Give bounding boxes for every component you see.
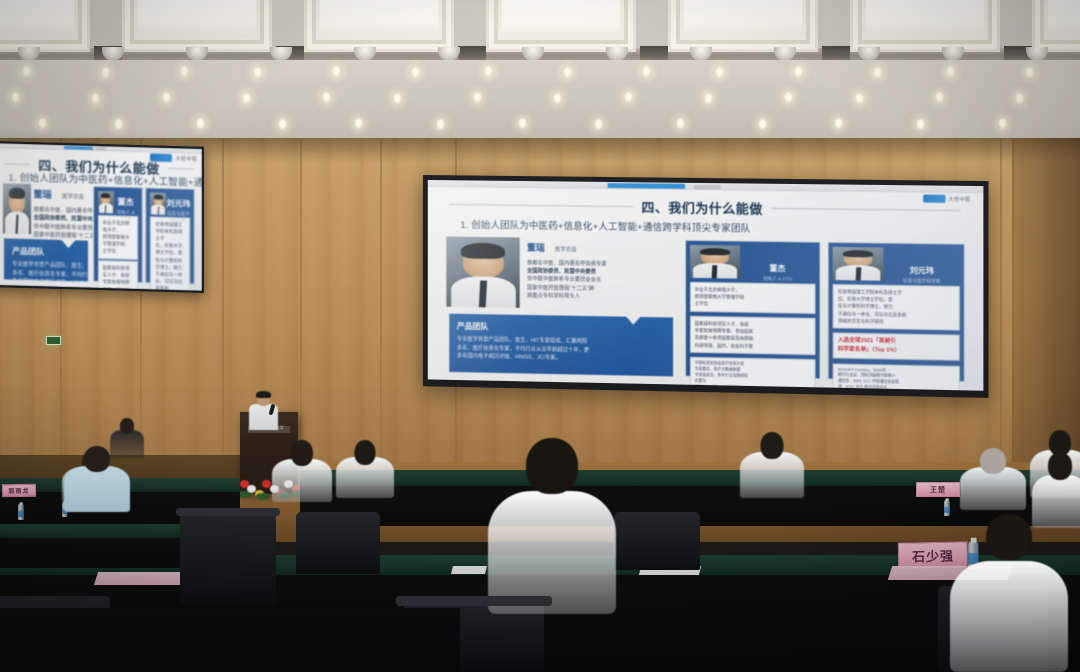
info-card: 毕业于北京邮电大学，获得密歇根大学管理学硕士学位 <box>690 282 816 314</box>
panel-header: 董杰 创始人 & CTO <box>98 191 138 215</box>
downlight <box>784 92 793 103</box>
bottle-label <box>18 511 24 517</box>
exit-sign <box>46 336 61 345</box>
downlight <box>998 118 1007 129</box>
profile-line: 病重点专科学科带头人 <box>527 292 678 303</box>
downlight <box>715 67 724 78</box>
auxiliary-monitor: 大经中医 四、我们为什么能做 1. 创始人团队为中医药+信息化+人工智能+通信跨… <box>0 141 204 293</box>
wall-right-shadow <box>1012 138 1080 468</box>
downlight <box>676 118 685 129</box>
person-head <box>291 440 313 466</box>
downlight <box>473 92 482 103</box>
portrait-photo <box>833 246 884 280</box>
conference-hall-photo: 大经中医 四、我们为什么能做 1. 创始人团队为中医药+信息化+人工智能+通信跨… <box>0 0 1080 672</box>
downlight <box>242 93 251 104</box>
card-line: 科学家名单」（Top 1%） <box>838 346 955 357</box>
card-line: 科研项目、国内、知名科学家 <box>695 341 811 350</box>
downlight <box>196 118 205 129</box>
panel-header: 刘元玮 信息与医疗科学家 <box>150 192 190 216</box>
nameplate: 郭雨龙 <box>2 484 36 498</box>
chair-arm <box>396 596 552 606</box>
audience-person <box>272 440 332 502</box>
left-column: 董瑞 医学总监 首都名中医、国内著名呼吸病专家全国政协委员、民盟中央委员世中联中… <box>447 236 678 376</box>
panel-identity: 刘元玮 信息与医疗科学家 <box>166 193 190 224</box>
person-head <box>761 432 784 459</box>
audience-person <box>64 446 130 512</box>
person-torso <box>950 561 1068 672</box>
person-head <box>980 448 1006 474</box>
expert-name: 董杰 <box>114 197 138 209</box>
panel-identity: 董杰 创始人 & CTO <box>740 245 816 283</box>
downlight <box>38 118 47 129</box>
ceiling-coffer <box>1032 0 1080 52</box>
profile-bio: 首都名中医、国内著名呼吸病专家全国政协委员、民盟中央委员世中联中医肺系专业委员会… <box>527 259 678 303</box>
portrait-photo <box>150 192 166 215</box>
person-torso <box>64 466 130 512</box>
card-line: 士学位 <box>695 300 811 309</box>
info-card: 毕业于北京邮电大学，获得密歇根大学管理学硕士学位 <box>98 215 138 260</box>
team-line: 多名国内电子病历评级、HIMSS、JCI专家。 <box>12 278 80 289</box>
info-card: 国家级科技领军人才、省级专家智库特聘专家、参加国家及部委十余项国家级及省部级科研… <box>690 316 816 355</box>
portrait-photo <box>690 244 740 278</box>
info-card: 伦敦帝国理工学院本科及硕士学位，伦敦大学博士学位，曾任与计算机科学博士，致力于通… <box>150 216 190 291</box>
downlight <box>11 92 20 103</box>
nameplate-text: 王楚 <box>930 485 946 495</box>
portrait-photo <box>447 236 520 308</box>
ceiling-coffer <box>668 0 818 52</box>
nameplate-text: 石少强 <box>912 545 954 565</box>
wall-seam <box>1000 138 1002 468</box>
downlight <box>946 66 955 77</box>
profile-role: 医学总监 <box>62 192 84 201</box>
downlight <box>253 67 262 78</box>
info-card: 伦敦帝国理工学院本科及硕士学位，伦敦大学博士学位，曾任与计算机科学博士，致力于通… <box>833 284 960 330</box>
wall-seam <box>380 138 382 468</box>
panel-header: 刘元玮 信息与医疗科学家 <box>833 246 960 281</box>
info-card: 中国标准化协会医疗信息分会专家委员、医疗大数据联盟专家组成员，多年行业深耕经验积… <box>690 357 816 391</box>
expert-panel-1: 董杰 创始人 & CTO 毕业于北京邮电大学，获得密歇根大学管理学硕士学位国家级… <box>685 239 821 379</box>
left-column: 董瑞 医学总监 首都名中医、国内著名呼吸病专家全国政协委员、民盟中央委员世中联中… <box>3 183 90 282</box>
card-line: 获得密歇根大学管理学硕 <box>103 233 133 248</box>
slide-subtitle: 1. 创始人团队为中医药+信息化+人工智能+通信跨学科顶尖专家团队 <box>460 217 960 238</box>
expert-role: 创始人 & CTO <box>740 276 816 283</box>
slide-duplicate: 大经中医 四、我们为什么能做 1. 创始人团队为中医药+信息化+人工智能+通信跨… <box>0 143 202 291</box>
downlight <box>101 67 110 78</box>
downlight <box>594 119 603 130</box>
person-head <box>526 438 578 494</box>
middle-column: 董杰 创始人 & CTO 毕业于北京邮电大学，获得密歇根大学管理学硕士学位国家级… <box>685 239 821 379</box>
downlight <box>22 66 31 77</box>
downlight <box>553 93 562 104</box>
downlight <box>873 67 882 78</box>
slide-body: 董瑞 医学总监 首都名中医、国内著名呼吸病专家全国政协委员、民盟中央委员世中联中… <box>3 183 196 285</box>
expert-name: 刘元玮 <box>166 198 190 210</box>
downlight <box>114 119 123 130</box>
panel-identity: 刘元玮 信息与医疗科学家 <box>884 247 961 285</box>
title-rule-left <box>449 204 633 207</box>
audience-chair <box>296 512 380 574</box>
title-rule-right <box>168 168 194 170</box>
expert-role: 创始人 & CTO <box>114 210 138 222</box>
slide-body: 董瑞 医学总监 首都名中医、国内著名呼吸病专家全国政协委员、民盟中央委员世中联中… <box>447 236 967 382</box>
info-card: IEEE/IET ComSoc、IEEE的期刊与会议、国际顶级期刊审稿人通信类、… <box>833 363 960 391</box>
downlight <box>916 119 925 130</box>
downlight <box>278 119 287 130</box>
portrait-photo <box>98 191 114 214</box>
audience-chair <box>180 512 276 604</box>
card-line: 于通信与一体化、可信与信息系统 <box>155 271 185 291</box>
ceiling-coffer <box>122 0 272 52</box>
title-rule-left <box>4 163 30 165</box>
audience-chair <box>614 512 700 570</box>
expert-panel-2: 刘元玮 信息与医疗科学家 伦敦帝国理工学院本科及硕士学位，伦敦大学博士学位，曾任… <box>145 187 195 285</box>
profile-role: 医学总监 <box>555 244 577 252</box>
downlight <box>332 66 341 77</box>
expert-name: 董杰 <box>740 263 816 275</box>
audience-person <box>488 438 616 614</box>
right-column: 刘元玮 信息与医疗科学家 伦敦帝国理工学院本科及硕士学位，伦敦大学博士学位，曾任… <box>145 187 195 285</box>
expert-role: 信息与医疗科学家 <box>884 278 961 285</box>
downlight <box>704 93 713 104</box>
nameplate: 王楚 <box>916 482 960 497</box>
downlight <box>393 93 402 104</box>
expert-panel-1: 董杰 创始人 & CTO 毕业于北京邮电大学，获得密歇根大学管理学硕士学位国家级… <box>93 186 143 284</box>
bottle-cap <box>945 498 948 501</box>
card-line: 领域的交叉与科学研究 <box>838 317 955 326</box>
downlight <box>91 93 100 104</box>
portrait-photo <box>3 183 31 234</box>
ceiling-coffer <box>0 0 90 52</box>
product-team-box: 产品团队 专业医学背景产品团队、医生、HIT专家组成、汇聚两院多名、医疗信息化专… <box>449 313 673 376</box>
foliage <box>256 493 269 500</box>
table-front-panel <box>0 538 210 568</box>
downlight <box>354 118 363 129</box>
team-title: 产品团队 <box>12 245 80 258</box>
wall-seam <box>300 138 302 468</box>
profile-name: 董瑞 <box>527 240 545 253</box>
nameplate-text: 郭雨龙 <box>8 486 29 495</box>
foreground-table-mass <box>0 608 460 672</box>
downlight <box>563 67 572 78</box>
downlight <box>935 92 944 103</box>
middle-column: 董杰 创始人 & CTO 毕业于北京邮电大学，获得密歇根大学管理学硕士学位国家级… <box>93 186 143 284</box>
audience-person <box>960 448 1026 510</box>
downlight <box>758 119 767 130</box>
downlight <box>855 93 864 104</box>
audience-person <box>740 432 804 498</box>
panel-header: 董杰 创始人 & CTO <box>690 244 816 279</box>
app-tab-secondary[interactable] <box>694 185 722 189</box>
bottle-label <box>944 507 950 513</box>
info-card: 入选全球2021「高被引科学家名单」（Top 1%） <box>833 333 960 361</box>
person-head <box>355 440 376 465</box>
downlight <box>162 92 171 103</box>
expert-name: 刘元玮 <box>884 265 961 277</box>
lead-profile: 董瑞 医学总监 首都名中医、国内著名呼吸病专家全国政协委员、民盟中央委员世中联中… <box>527 237 678 303</box>
downlight <box>642 66 651 77</box>
chair-arm <box>176 508 280 516</box>
speaker-hair <box>256 391 271 398</box>
downlight <box>794 66 803 77</box>
panel-identity: 董杰 创始人 & CTO <box>114 191 138 221</box>
ceiling-soffit <box>0 60 1080 142</box>
ceiling-coffer <box>486 0 636 52</box>
downlight <box>1025 67 1034 78</box>
app-tab-secondary[interactable] <box>96 147 106 150</box>
audience-person <box>950 514 1068 672</box>
card-line: 国家级科技领军人才、省级 <box>103 264 133 279</box>
title-rule-right <box>771 208 961 211</box>
downlight <box>484 66 493 77</box>
card-line: 士学位 <box>103 247 133 255</box>
slide-title: 四、我们为什么能做 <box>641 197 762 217</box>
audience-person <box>336 440 394 498</box>
bottle-cap <box>19 502 22 505</box>
downlight <box>411 67 420 78</box>
info-card: 国家级科技领军人才、省级专家智库特聘专家、参加国家及部委十余项国家级及省部级科研… <box>98 260 138 291</box>
person-head <box>84 446 110 472</box>
card-line: 专家智库特聘专家、参加国家 <box>103 278 133 290</box>
water-bottle <box>944 500 950 516</box>
downlight <box>834 118 843 129</box>
person-head <box>120 418 134 434</box>
document-paper <box>451 566 487 574</box>
card-line: 任与计算机科学博士，致力 <box>155 256 185 271</box>
expert-role: 信息与医疗科学家 <box>166 211 190 224</box>
downlight <box>1015 93 1024 104</box>
product-team-box: 产品团队 专业医学背景产品团队、医生、HIT专家组成、汇聚两院多名、医疗信息化专… <box>4 238 88 282</box>
expert-panel-2: 刘元玮 信息与医疗科学家 伦敦帝国理工学院本科及硕士学位，伦敦大学博士学位，曾任… <box>828 241 965 382</box>
downlight <box>624 92 633 103</box>
water-bottle <box>18 504 24 520</box>
downlight <box>322 92 331 103</box>
downlight <box>180 66 189 77</box>
card-line: 位，伦敦大学博士学位，曾 <box>155 242 185 257</box>
wall-seam <box>222 138 224 468</box>
profile-name: 董瑞 <box>34 187 52 201</box>
ceiling-coffer <box>850 0 1000 52</box>
projection-screen: 大经中医 四、我们为什么能做 1. 创始人团队为中医药+信息化+人工智能+通信跨… <box>423 175 989 398</box>
downlight <box>518 118 527 129</box>
downlight <box>436 119 445 130</box>
slide-title-row: 四、我们为什么能做 <box>449 195 960 220</box>
person-head <box>1048 452 1072 480</box>
presentation-slide: 大经中医 四、我们为什么能做 1. 创始人团队为中医药+信息化+人工智能+通信跨… <box>428 180 984 391</box>
person-head <box>986 514 1032 560</box>
right-column: 刘元玮 信息与医疗科学家 伦敦帝国理工学院本科及硕士学位，伦敦大学博士学位，曾任… <box>828 241 965 382</box>
ceiling-coffer <box>304 0 454 52</box>
